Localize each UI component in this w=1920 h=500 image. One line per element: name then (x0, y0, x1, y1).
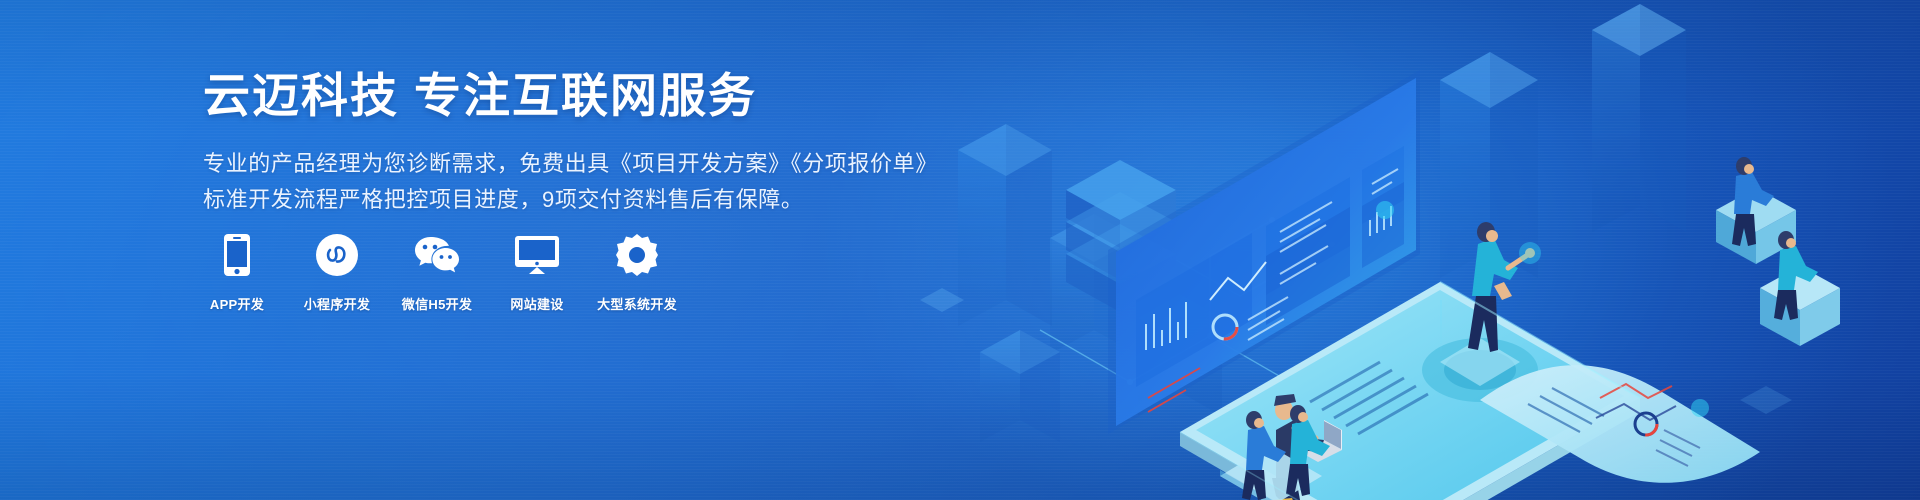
service-list: APP开发 小程序开发 微信 (200, 232, 674, 313)
gear-icon (616, 232, 658, 278)
hero-banner: 云迈科技 专注互联网服务 专业的产品经理为您诊断需求，免费出具《项目开发方案》《… (0, 0, 1920, 500)
isometric-tech-illustration (880, 0, 1920, 500)
page-title: 云迈科技 专注互联网服务 (203, 68, 903, 124)
subtitle-line-1: 专业的产品经理为您诊断需求，免费出具《项目开发方案》《分项报价单》 (203, 146, 903, 182)
service-item-large-system[interactable]: 大型系统开发 (600, 232, 674, 313)
subtitle-line-2: 标准开发流程严格把控项目进度，9项交付资料售后有保障。 (203, 182, 903, 218)
mobile-phone-icon (224, 232, 250, 278)
service-label: APP开发 (210, 294, 264, 313)
monitor-icon (515, 232, 559, 278)
service-label: 网站建设 (510, 294, 563, 313)
service-item-wechat-h5[interactable]: 微信H5开发 (400, 232, 474, 313)
mini-program-icon (316, 232, 358, 278)
service-label: 微信H5开发 (402, 294, 472, 313)
banner-subtitle: 专业的产品经理为您诊断需求，免费出具《项目开发方案》《分项报价单》 标准开发流程… (203, 146, 903, 217)
service-item-app[interactable]: APP开发 (200, 232, 274, 313)
service-item-miniprogram[interactable]: 小程序开发 (300, 232, 374, 313)
service-item-website[interactable]: 网站建设 (500, 232, 574, 313)
service-label: 小程序开发 (304, 294, 371, 313)
wechat-icon (414, 232, 460, 278)
banner-content: 云迈科技 专注互联网服务 专业的产品经理为您诊断需求，免费出具《项目开发方案》《… (203, 68, 903, 218)
service-label: 大型系统开发 (597, 294, 677, 313)
